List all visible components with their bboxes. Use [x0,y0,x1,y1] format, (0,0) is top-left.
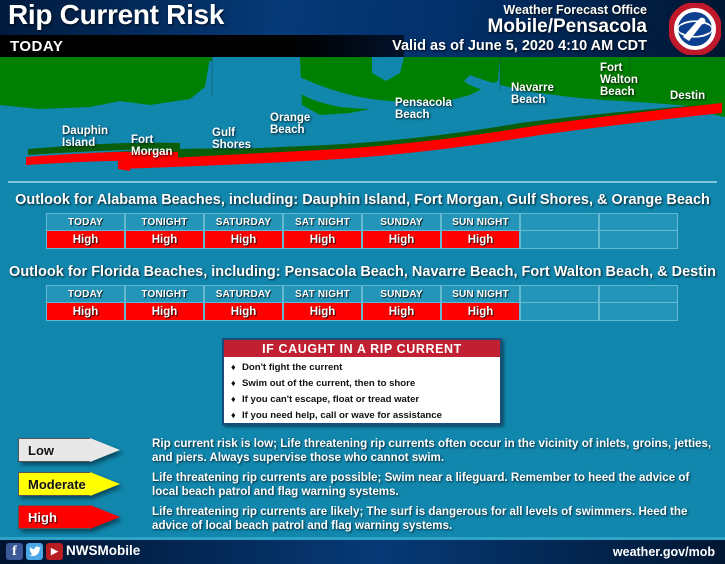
legend-moderate-body: Moderate [18,472,90,496]
risk-cell: High [46,303,125,321]
diamond-bullet-icon: ♦ [231,378,236,389]
risk-badge: High [284,231,361,248]
risk-cell: High [46,231,125,249]
column-header-empty [599,213,678,231]
page-title: Rip Current Risk [8,0,224,31]
legend-arrow-high: High [18,505,120,529]
risk-cell [599,231,678,249]
column-header-sunday: SUNDAY [362,285,441,303]
map-label-dauphin-island: Dauphin Island [62,125,108,149]
risk-badge [521,231,598,248]
risk-badge [600,303,677,320]
risk-badge: High [205,231,282,248]
twitter-icon[interactable] [26,543,43,560]
outlook-title-alabama: Outlook for Alabama Beaches, including: … [0,192,725,208]
risk-badge: High [363,231,440,248]
header-banner: Rip Current Risk TODAY Weather Forecast … [0,0,725,57]
rip-box-item: ♦If you need help, call or wave for assi… [242,410,500,421]
map-label-fort-walton-beach: Fort Walton Beach [600,62,638,98]
risk-badge: High [442,303,519,320]
office-label: Weather Forecast Office [503,3,647,17]
legend-low-body: Low [18,438,90,462]
website-url[interactable]: weather.gov/mob [613,545,715,559]
risk-badge [600,231,677,248]
diamond-bullet-icon: ♦ [231,362,236,373]
rip-box-item: ♦If you can't escape, float or tread wat… [242,394,500,405]
rip-box-list: ♦Don't fight the current♦Swim out of the… [224,357,500,421]
rip-box-item: ♦Don't fight the current [242,362,500,373]
column-header-tonight: TONIGHT [125,285,204,303]
period-label: TODAY [10,38,63,55]
column-header-saturday: SATURDAY [204,213,283,231]
diamond-bullet-icon: ♦ [231,394,236,405]
legend-text-moderate: Life threatening rip currents are possib… [152,471,718,498]
column-header-sun-night: SUN NIGHT [441,213,520,231]
legend-moderate-tip [90,472,120,496]
column-header-sat-night: SAT NIGHT [283,285,362,303]
risk-cell: High [441,303,520,321]
column-header-empty [520,285,599,303]
legend-arrow-low: Low [18,438,120,462]
legend-text-high: Life threatening rip currents are likely… [152,505,718,532]
risk-cell: High [125,303,204,321]
column-header-tonight: TONIGHT [125,213,204,231]
risk-badge: High [284,303,361,320]
map-divider [8,181,717,183]
column-header-sun-night: SUN NIGHT [441,285,520,303]
table-header-row: TODAYTONIGHTSATURDAYSAT NIGHTSUNDAYSUN N… [46,213,678,231]
diamond-bullet-icon: ♦ [231,410,236,421]
rip-box-heading: IF CAUGHT IN A RIP CURRENT [224,340,500,357]
risk-cell: High [204,231,283,249]
risk-cell: High [125,231,204,249]
map-label-gulf-shores: Gulf Shores [212,127,251,151]
nws-logo-icon [669,3,721,55]
map-label-pensacola-beach: Pensacola Beach [395,97,452,121]
valid-time: Valid as of June 5, 2020 4:10 AM CDT [392,38,647,54]
risk-cell [599,303,678,321]
risk-badge: High [442,231,519,248]
legend-high-label: High [28,510,57,525]
if-caught-in-rip-current-box: IF CAUGHT IN A RIP CURRENT ♦Don't fight … [222,338,502,425]
column-header-empty [599,285,678,303]
column-header-today: TODAY [46,213,125,231]
social-handle: NWSMobile [66,543,140,558]
risk-badge: High [47,303,124,320]
legend-high-tip [90,505,120,529]
risk-cell: High [283,303,362,321]
risk-cell [520,303,599,321]
legend-moderate-label: Moderate [28,477,86,492]
rip-current-risk-graphic: Rip Current Risk TODAY Weather Forecast … [0,0,725,564]
office-name: Mobile/Pensacola [488,16,647,38]
risk-badge [521,303,598,320]
risk-cell: High [362,303,441,321]
risk-cell [520,231,599,249]
youtube-icon[interactable]: ▶ [46,543,63,560]
map-label-destin: Destin [670,90,705,102]
risk-badge: High [363,303,440,320]
risk-cell: High [204,303,283,321]
twitter-bird-icon [29,546,41,557]
rip-box-item: ♦Swim out of the current, then to shore [242,378,500,389]
legend-low-label: Low [28,443,54,458]
column-header-saturday: SATURDAY [204,285,283,303]
table-header-row: TODAYTONIGHTSATURDAYSAT NIGHTSUNDAYSUN N… [46,285,678,303]
risk-cell: High [283,231,362,249]
outlook-title-florida: Outlook for Florida Beaches, including: … [0,264,725,280]
map-label-fort-morgan: Fort Morgan [131,134,173,158]
column-header-empty [520,213,599,231]
outlook-table-florida: TODAYTONIGHTSATURDAYSAT NIGHTSUNDAYSUN N… [46,285,678,321]
column-header-sat-night: SAT NIGHT [283,213,362,231]
table-value-row: HighHighHighHighHighHigh [46,231,678,249]
risk-cell: High [441,231,520,249]
legend-high-body: High [18,505,90,529]
risk-badge: High [126,303,203,320]
map-label-orange-beach: Orange Beach [270,112,310,136]
risk-badge: High [205,303,282,320]
column-header-sunday: SUNDAY [362,213,441,231]
column-header-today: TODAY [46,285,125,303]
risk-badge: High [126,231,203,248]
legend-text-low: Rip current risk is low; Life threatenin… [152,437,718,464]
legend-arrow-moderate: Moderate [18,472,120,496]
map-label-navarre-beach: Navarre Beach [511,82,554,106]
coastal-risk-map: Dauphin Island Fort Morgan Gulf Shores O… [0,57,725,185]
risk-cell: High [362,231,441,249]
facebook-icon[interactable]: f [6,543,23,560]
risk-badge: High [47,231,124,248]
outlook-table-alabama: TODAYTONIGHTSATURDAYSAT NIGHTSUNDAYSUN N… [46,213,678,249]
table-value-row: HighHighHighHighHighHigh [46,303,678,321]
period-bar: TODAY [0,35,404,57]
legend-low-tip [90,438,120,462]
